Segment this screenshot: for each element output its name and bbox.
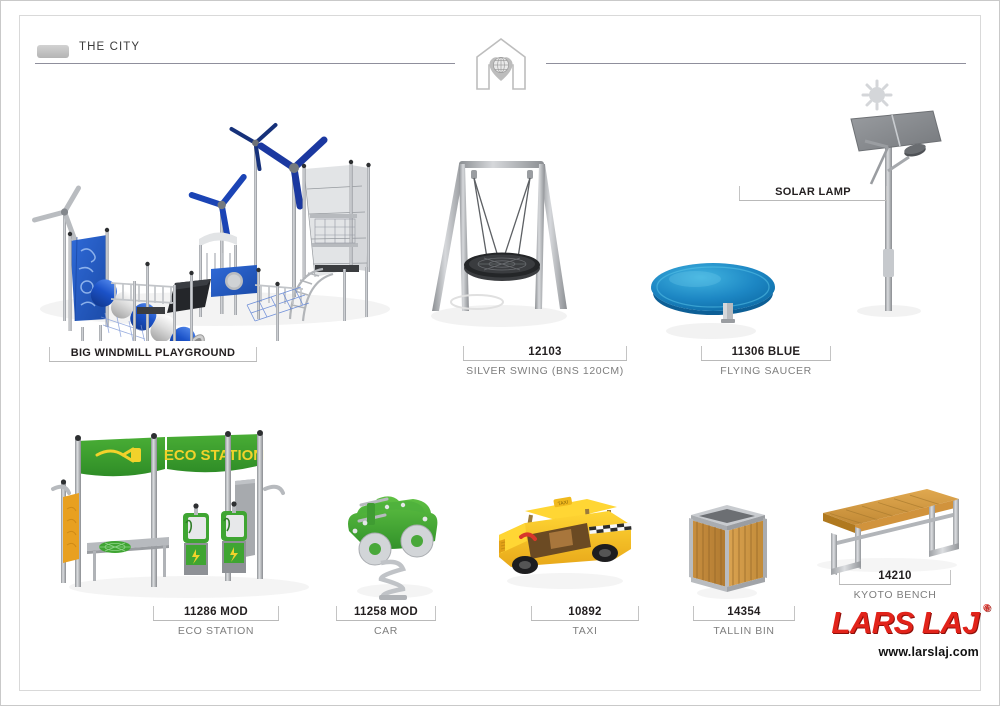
label-flying-saucer: 11306 BLUE FLYING SAUCER [701, 341, 831, 377]
product-name: TAXI [531, 625, 639, 637]
category-label: THE CITY [79, 41, 140, 53]
label-car: 11258 MOD CAR [336, 601, 436, 637]
header-rule-left [35, 63, 455, 64]
product-code: 11306 BLUE [701, 346, 831, 358]
eco-station-sign-text: ECO STATION [164, 447, 264, 464]
label-solar-lamp: SOLAR LAMP [739, 181, 887, 201]
label-taxi: 10892 TAXI [531, 601, 639, 637]
label-kyoto-bench: 14210 KYOTO BENCH [839, 565, 951, 601]
brand-url: www.larslaj.com [831, 645, 979, 659]
product-code: 11286 MOD [153, 606, 279, 618]
house-heart-globe-icon [467, 35, 535, 93]
product-code: 11258 MOD [336, 606, 436, 618]
product-name: ECO STATION [153, 625, 279, 637]
product-image-solar-lamp [831, 79, 971, 341]
product-name: CAR [336, 625, 436, 637]
brand-logo: LARS LAJ ® www.larslaj.com [831, 607, 979, 659]
product-image-flying-saucer [639, 241, 789, 346]
brand-wordmark: LARS LAJ ® [831, 607, 979, 638]
header-rule-right [546, 63, 966, 64]
product-name: FLYING SAUCER [701, 365, 831, 377]
product-name: SILVER SWING (BNS 120CM) [463, 365, 627, 377]
product-image-big-windmill-playground [15, 69, 405, 341]
category-chip [37, 45, 69, 58]
label-tallin-bin: 14354 TALLIN BIN [693, 601, 795, 637]
product-code: SOLAR LAMP [739, 186, 887, 198]
product-image-car [331, 479, 461, 603]
product-code: 14210 [839, 570, 951, 582]
brand-text: LARS LAJ [831, 605, 979, 640]
label-eco-station: 11286 MOD ECO STATION [153, 601, 279, 637]
product-name: TALLIN BIN [693, 625, 795, 637]
product-name: KYOTO BENCH [839, 589, 951, 601]
label-big-windmill-playground: BIG WINDMILL PLAYGROUND [49, 342, 257, 362]
product-image-taxi: TAXI [491, 479, 641, 599]
product-code: 12103 [463, 346, 627, 358]
product-image-eco-station: ECO STATION [39, 423, 335, 605]
catalog-page: THE CITY [0, 0, 1000, 706]
product-code: 10892 [531, 606, 639, 618]
product-image-silver-swing [399, 146, 599, 341]
product-image-tallin-bin [675, 493, 779, 603]
registered-mark: ® [983, 604, 990, 614]
product-code: 14354 [693, 606, 795, 618]
product-code: BIG WINDMILL PLAYGROUND [49, 347, 257, 359]
label-silver-swing: 12103 SILVER SWING (BNS 120CM) [463, 341, 627, 377]
